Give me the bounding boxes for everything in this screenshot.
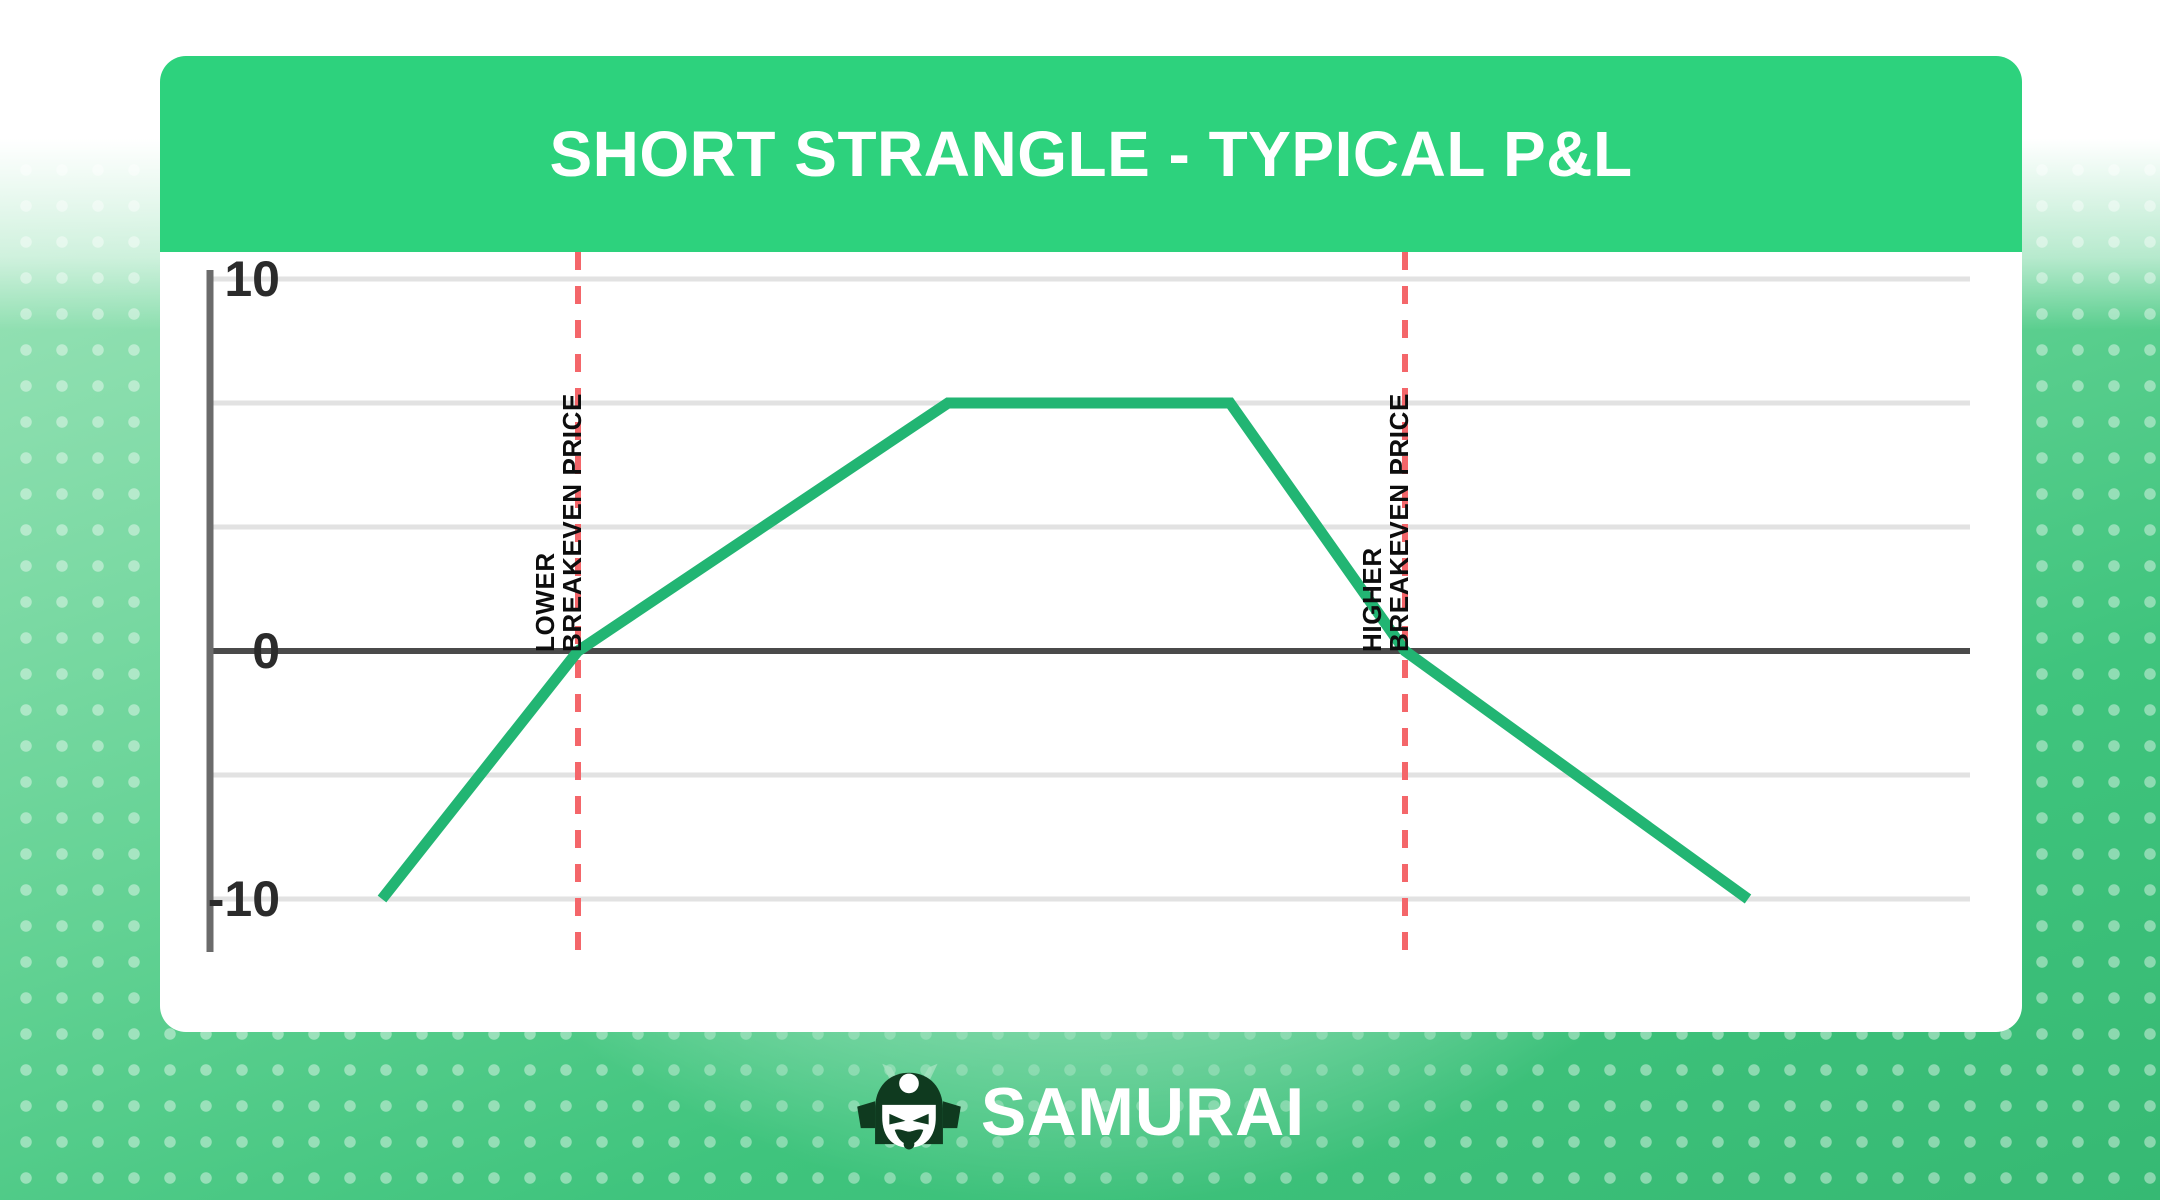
brand-name: SAMURAI — [981, 1078, 1305, 1146]
chart-plot-area: 10 0 -10 LOWER BREAKEVEN PRICE HIGHER BR… — [160, 252, 2022, 1032]
card-header-banner: SHORT STRANGLE - TYPICAL P&L — [160, 56, 2022, 252]
lower-breakeven-label: LOWER BREAKEVEN PRICE — [532, 393, 587, 652]
y-tick-label-0: 0 — [160, 626, 280, 676]
y-tick-label-minus-10: -10 — [160, 874, 280, 924]
gridlines — [208, 279, 1970, 899]
samurai-helmet-icon — [855, 1062, 963, 1162]
brand-footer: SAMURAI — [0, 1052, 2160, 1172]
higher-breakeven-label-line2: BREAKEVEN PRICE — [1386, 393, 1413, 652]
higher-breakeven-label-line1: HIGHER — [1359, 393, 1386, 652]
higher-breakeven-label: HIGHER BREAKEVEN PRICE — [1359, 393, 1414, 652]
lower-breakeven-label-line1: LOWER — [532, 393, 559, 652]
lower-breakeven-label-line2: BREAKEVEN PRICE — [559, 393, 586, 652]
chart-card: SHORT STRANGLE - TYPICAL P&L 10 0 — [160, 56, 2022, 1032]
pnl-line-chart — [160, 252, 2022, 1032]
y-tick-label-10: 10 — [160, 254, 280, 304]
page-title: SHORT STRANGLE - TYPICAL P&L — [549, 117, 1632, 191]
